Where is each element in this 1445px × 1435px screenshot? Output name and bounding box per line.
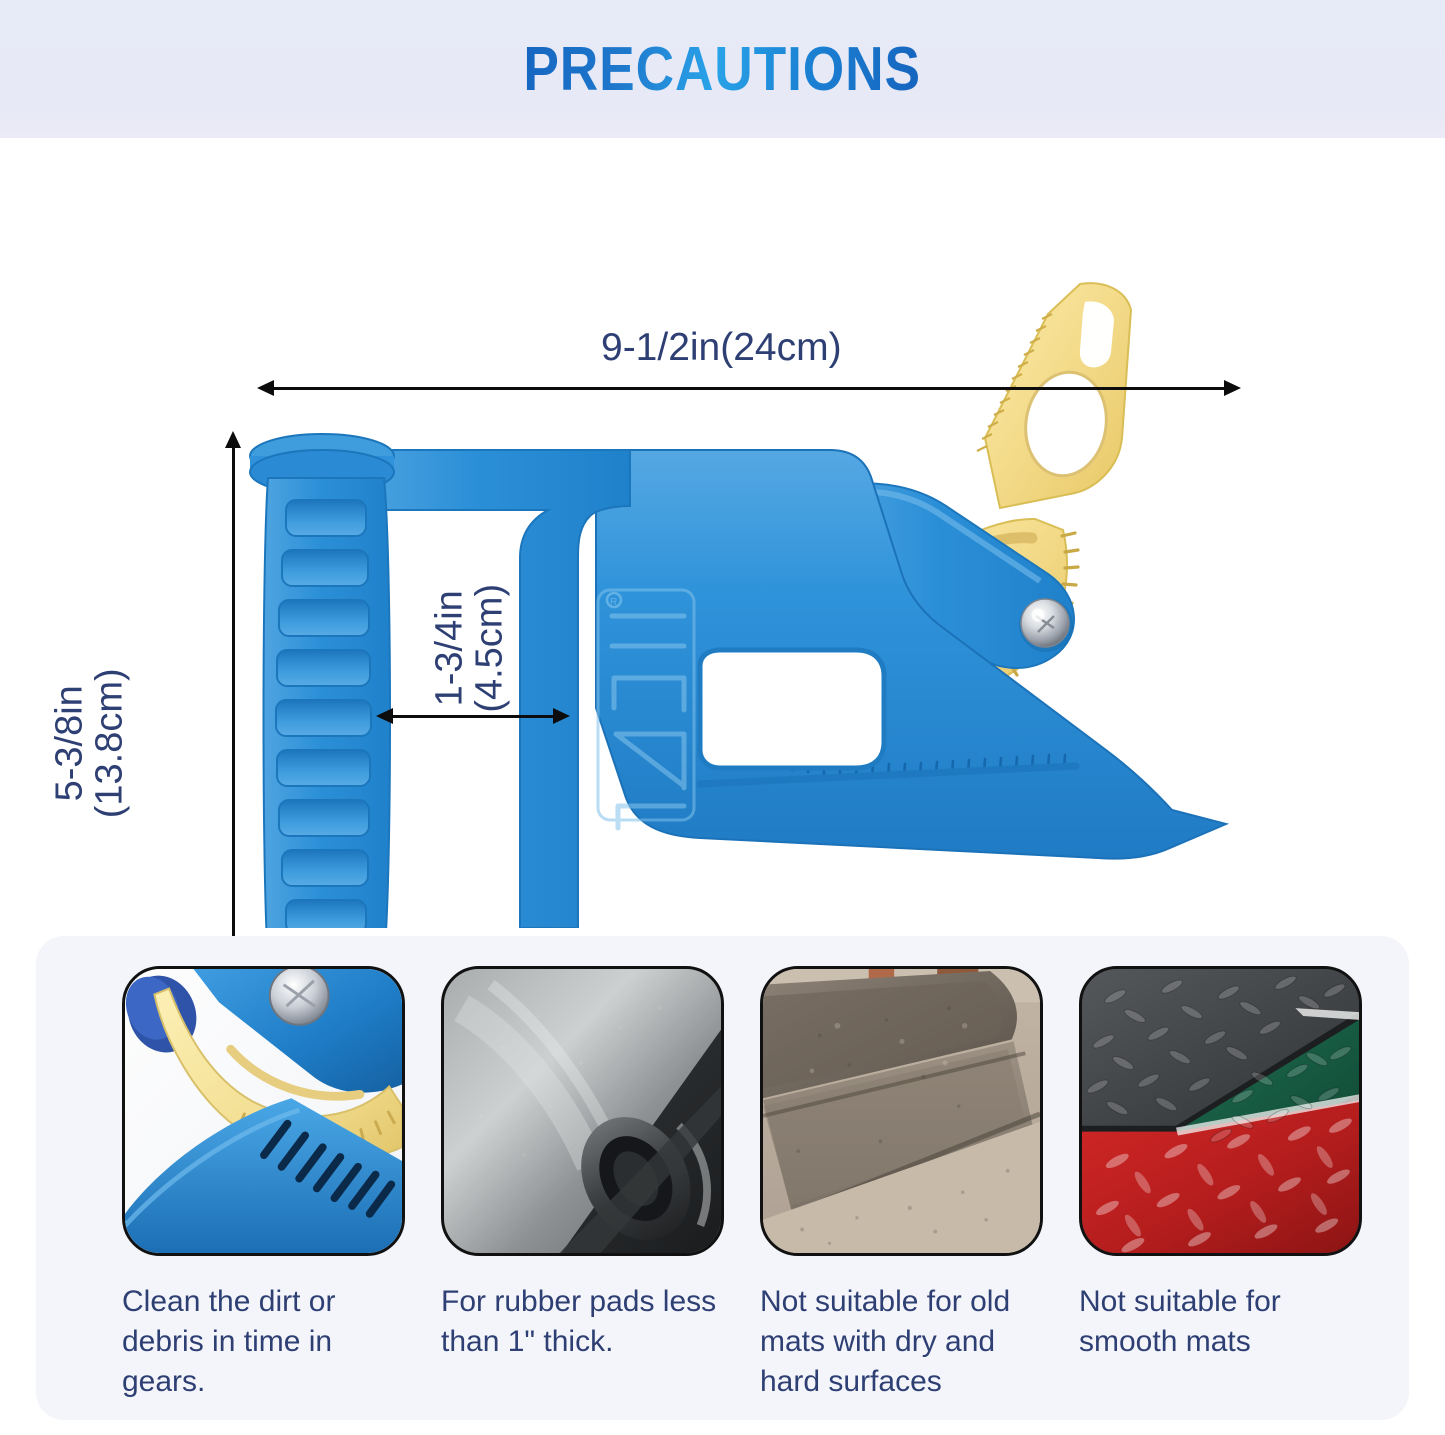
dimension-label-overall-height: 5-3/8in (13.8cm)	[50, 578, 131, 908]
old-dry-mat-photo	[763, 969, 1040, 1253]
precaution-caption-row: Clean the dirt or debris in time in gear…	[122, 1282, 1422, 1402]
dimension-label-line2: (13.8cm)	[90, 578, 130, 908]
precaution-thumbnail-gear-closeup	[122, 966, 405, 1256]
gear-closeup-photo	[125, 969, 402, 1253]
svg-text:R: R	[610, 597, 617, 608]
precaution-caption-smooth-mats: Not suitable for smooth mats	[1079, 1282, 1362, 1402]
precaution-thumbnail-row	[122, 966, 1362, 1262]
precaution-thumbnail-old-dry-mat	[760, 966, 1043, 1256]
dimension-arrow-handle-clearance	[391, 715, 555, 718]
precautions-panel: Clean the dirt or debris in time in gear…	[36, 936, 1409, 1420]
product-diagram-area: R	[0, 138, 1445, 928]
precaution-thumbnail-rubber-sheet	[441, 966, 724, 1256]
dimension-label-line1: 5-3/8in	[50, 578, 90, 908]
dimension-label-overall-width: 9-1/2in(24cm)	[601, 326, 842, 370]
dimension-label-line2: (4.5cm)	[470, 483, 510, 813]
rolled-rubber-sheet-photo	[444, 969, 721, 1253]
dimension-label-handle-clearance: 1-3/4in (4.5cm)	[430, 483, 511, 813]
precaution-caption-clean-gears: Clean the dirt or debris in time in gear…	[122, 1282, 405, 1402]
page-title: PRECAUTIONS	[524, 34, 922, 105]
precaution-caption-old-dry-mats: Not suitable for old mats with dry and h…	[760, 1282, 1043, 1402]
dimension-arrow-overall-width	[272, 387, 1226, 390]
rubber-mat-cutter-illustration: R	[0, 138, 1445, 928]
diamond-plate-mats-photo	[1082, 969, 1359, 1253]
yellow-lever	[977, 283, 1131, 508]
tool-handle	[246, 434, 398, 928]
precaution-thumbnail-diamond-plate-mats	[1079, 966, 1362, 1256]
precaution-caption-pad-thickness: For rubber pads less than 1" thick.	[441, 1282, 724, 1402]
handle-grip-slots	[276, 500, 371, 928]
tool-body-group: R	[246, 283, 1226, 928]
dimension-arrow-overall-height	[232, 446, 235, 990]
pivot-screw	[1019, 598, 1073, 652]
dimension-label-line1: 1-3/4in	[430, 483, 470, 813]
header-band: PRECAUTIONS	[0, 0, 1445, 138]
